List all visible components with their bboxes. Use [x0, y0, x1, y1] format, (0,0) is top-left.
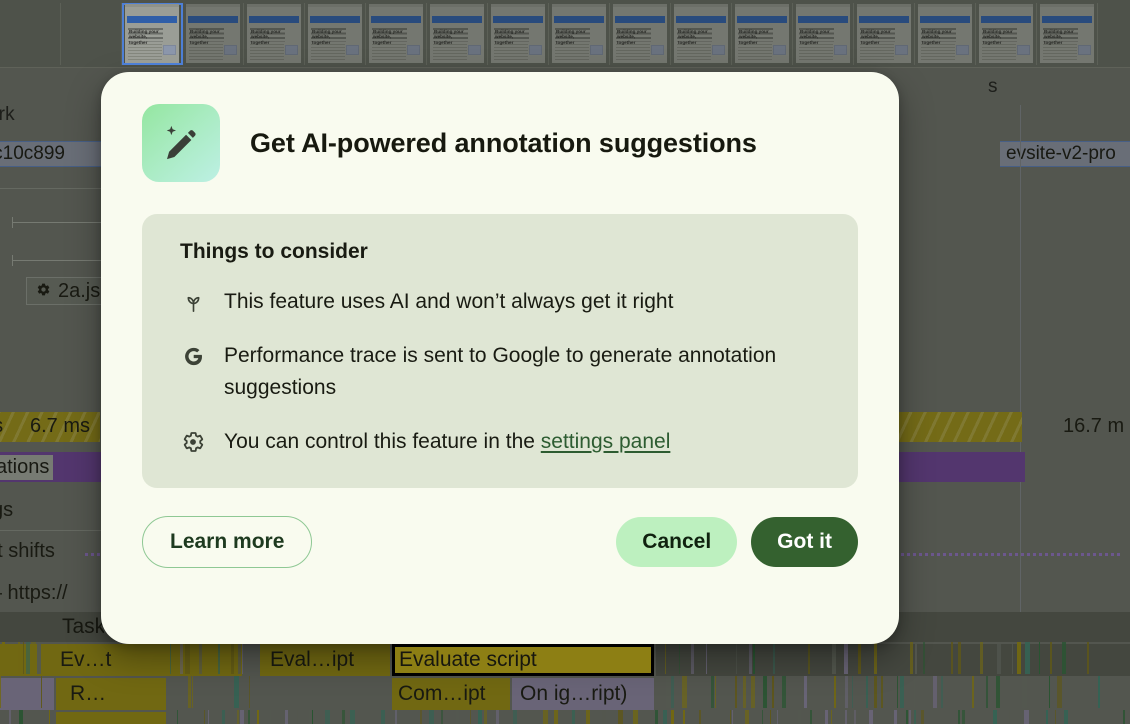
- consider-item-text-0: This feature uses AI and won’t always ge…: [224, 286, 673, 318]
- learn-more-button[interactable]: Learn more: [142, 516, 312, 568]
- magic-pencil-icon: [142, 104, 220, 182]
- filmstrip-frame-title: Building your website, together: [129, 29, 161, 45]
- settings-panel-link[interactable]: settings panel: [541, 430, 671, 453]
- consider-item-ai-accuracy: This feature uses AI and won’t always ge…: [180, 286, 820, 318]
- ai-annotation-consent-dialog: Get AI-powered annotation suggestions Th…: [101, 72, 899, 644]
- dialog-header: Get AI-powered annotation suggestions: [142, 104, 858, 182]
- sprout-icon: [180, 289, 206, 315]
- footer-actions: Cancel Got it: [616, 517, 858, 567]
- consider-item-text-2-prefix: You can control this feature in the: [224, 430, 541, 453]
- consider-item-data-sent: Performance trace is sent to Google to g…: [180, 340, 820, 404]
- got-it-button[interactable]: Got it: [751, 517, 858, 567]
- consider-item-text-2: You can control this feature in the sett…: [224, 426, 670, 458]
- consider-item-text-1: Performance trace is sent to Google to g…: [224, 340, 820, 404]
- dialog-title: Get AI-powered annotation suggestions: [250, 128, 757, 159]
- google-g-icon: [180, 343, 206, 369]
- consider-item-settings: You can control this feature in the sett…: [180, 426, 820, 458]
- dialog-footer: Learn more Cancel Got it: [142, 516, 858, 568]
- filmstrip-frame[interactable]: Building your website, together: [122, 3, 183, 65]
- gear-icon: [180, 429, 206, 455]
- cancel-button[interactable]: Cancel: [616, 517, 737, 567]
- flame-frame-evaluate-script-selected[interactable]: Evaluate script: [392, 644, 654, 676]
- consider-heading: Things to consider: [180, 240, 820, 264]
- things-to-consider-panel: Things to consider This feature uses AI …: [142, 214, 858, 488]
